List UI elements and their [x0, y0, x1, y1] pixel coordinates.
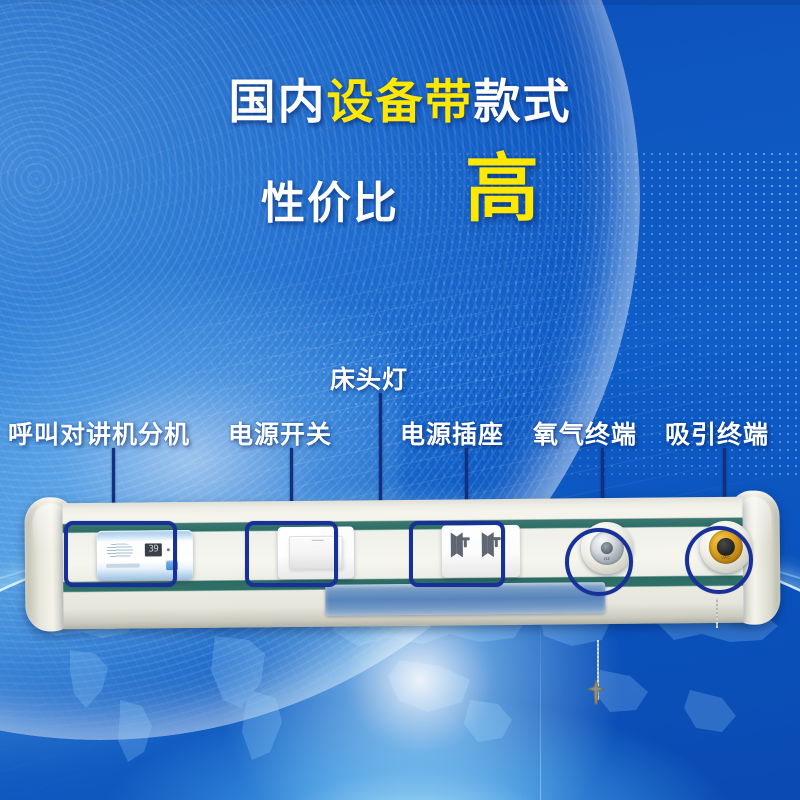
callout-label-suction: 吸引终端	[665, 415, 769, 451]
advertisement-banner: 国内设备带款式 性价比 高 呼叫对讲机分机 电源开关 床头灯 电源插座 氧气终端…	[0, 0, 800, 800]
highlight-circle-oxygen	[565, 528, 633, 596]
highlight-box-power-socket	[409, 521, 505, 587]
highlight-box-intercom	[64, 521, 177, 587]
highlight-circle-suction	[685, 526, 753, 594]
horizon-glow	[180, 620, 660, 800]
callout-label-power-switch: 电源开关	[228, 415, 332, 451]
callout-label-bed-lamp: 床头灯	[330, 360, 408, 396]
headline-line-1: 国内设备带款式	[0, 78, 800, 125]
callout-label-intercom: 呼叫对讲机分机	[8, 415, 190, 451]
suction-pull-cord[interactable]	[716, 598, 718, 628]
headline-line-2: 性价比 高	[0, 165, 800, 233]
headline-part-1: 国内	[229, 75, 327, 128]
callout-label-power-socket: 电源插座	[400, 415, 504, 451]
value-for-money-text: 性价比	[261, 167, 399, 231]
callout-label-oxygen: 氧气终端	[533, 415, 637, 451]
highlight-box-power-switch	[245, 521, 338, 587]
headline-highlight: 设备带	[327, 75, 474, 128]
high-word: 高	[465, 155, 539, 223]
bed-lamp-diffuser[interactable]	[325, 582, 605, 616]
cord-weight-icon	[587, 680, 605, 706]
headline-block: 国内设备带款式	[0, 78, 800, 125]
headline-part-2: 款式	[474, 75, 572, 128]
